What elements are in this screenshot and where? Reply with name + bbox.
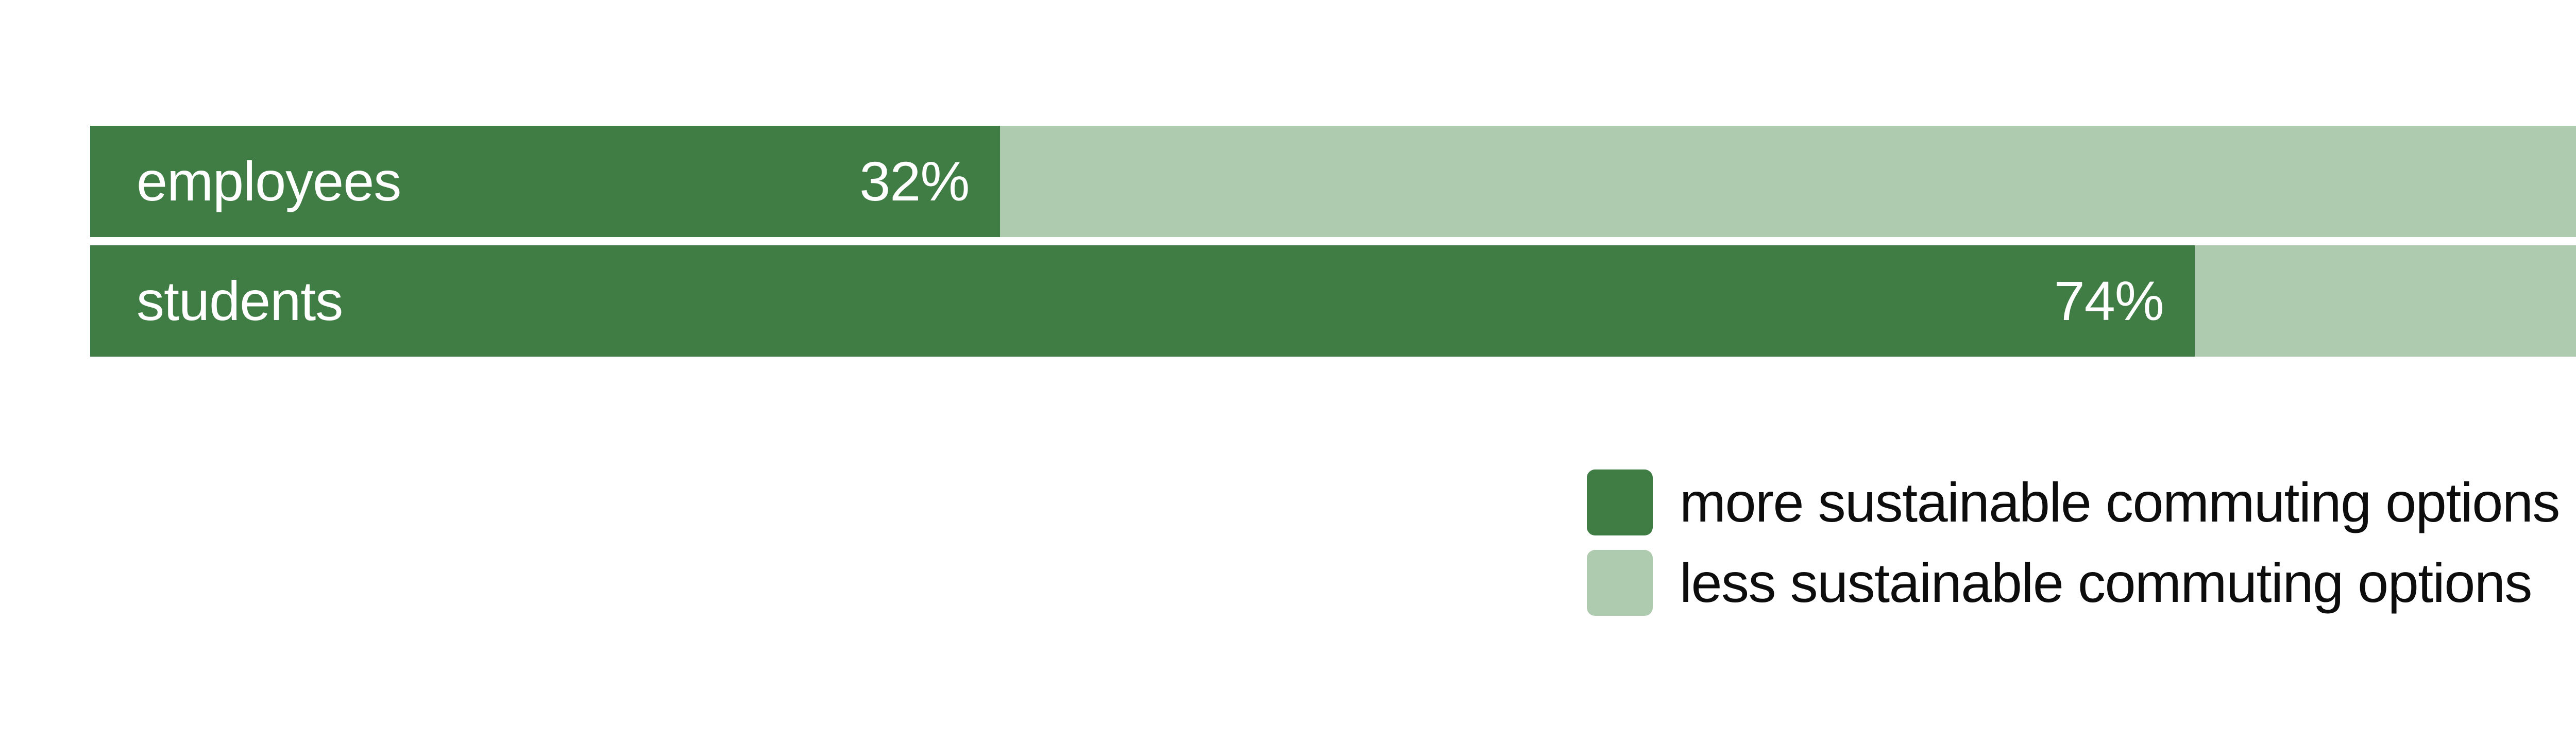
legend-label-less-sustainable: less sustainable commuting options [1680,555,2532,611]
bar-category-label-students: students [137,273,343,329]
bar-category-label-employees: employees [137,154,401,209]
bar-row-employees[interactable]: employees 32% 68% [90,126,2576,237]
bar-segment-secondary-employees[interactable]: 68% [1000,126,2576,237]
stacked-bar-chart: employees 32% 68% students 74% 26% more … [0,0,2576,738]
bar-segment-primary-students[interactable]: students 74% [90,245,2195,357]
legend-item-more-sustainable[interactable]: more sustainable commuting options [1587,469,2560,536]
bar-segment-secondary-students[interactable]: 26% [2195,245,2576,357]
legend-item-less-sustainable[interactable]: less sustainable commuting options [1587,549,2560,616]
legend-swatch-icon-more-sustainable [1587,469,1653,535]
bar-value-primary-employees: 32% [859,154,969,209]
chart-legend: more sustainable commuting options less … [1587,469,2560,616]
bar-row-students[interactable]: students 74% 26% [90,245,2576,357]
legend-label-more-sustainable: more sustainable commuting options [1680,475,2560,530]
bars-area: employees 32% 68% students 74% 26% [90,126,2576,357]
legend-swatch-icon-less-sustainable [1587,550,1653,616]
bar-value-primary-students: 74% [2054,273,2164,329]
bar-segment-primary-employees[interactable]: employees 32% [90,126,1000,237]
